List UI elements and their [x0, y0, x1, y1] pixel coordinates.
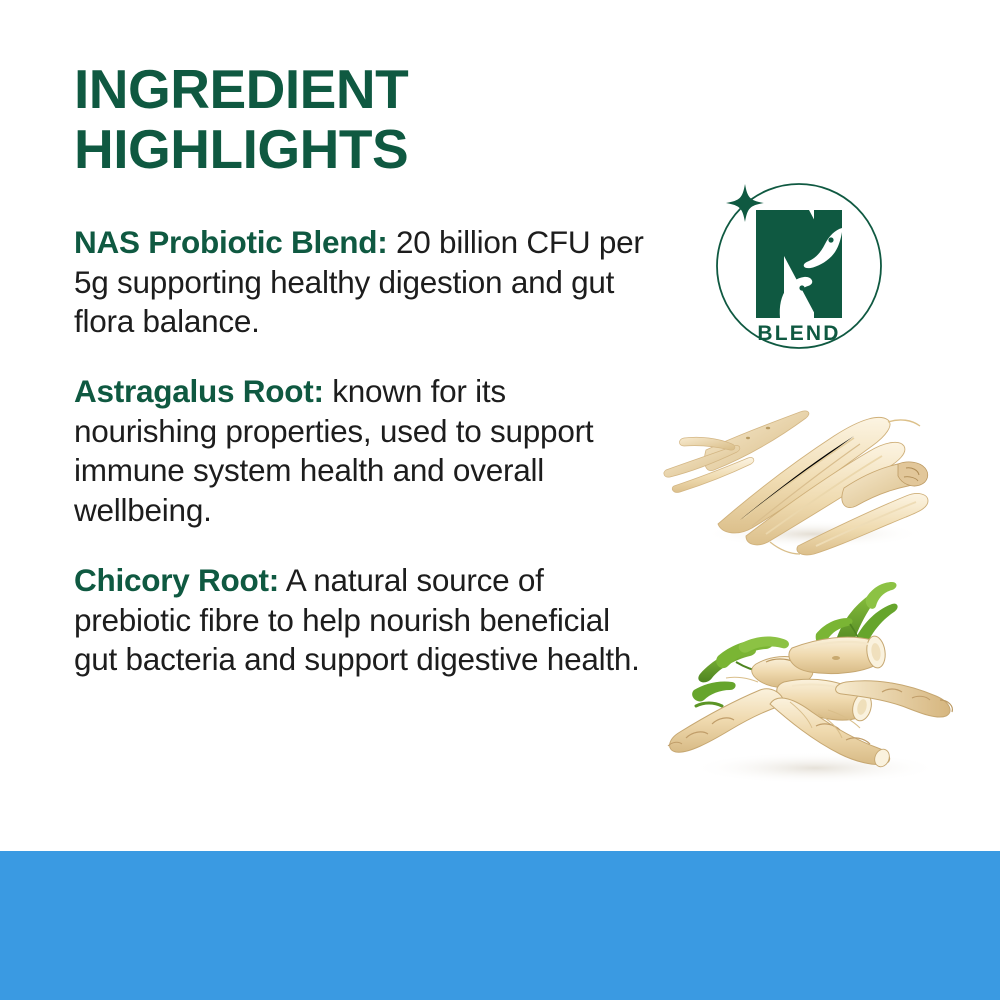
- list-item: Chicory Root: A natural source of prebio…: [74, 561, 654, 680]
- list-item: Astragalus Root: known for its nourishin…: [74, 372, 654, 531]
- list-item: NAS Probiotic Blend: 20 billion CFU per …: [74, 223, 654, 342]
- infographic-page: INGREDIENT HIGHLIGHTS NAS Probiotic Blen…: [0, 0, 1000, 1000]
- nas-blend-logo-icon: BLEND: [709, 176, 889, 358]
- ingredient-name: Astragalus Root:: [74, 373, 324, 409]
- chicory-root-image: [640, 578, 980, 793]
- page-title: INGREDIENT HIGHLIGHTS: [74, 60, 714, 180]
- n-monogram: [756, 210, 842, 318]
- footer-banner: QUALITY NATURAL INGREDIENTS: [0, 851, 1000, 1000]
- cat-eye: [799, 285, 804, 290]
- ingredient-list: NAS Probiotic Blend: 20 billion CFU per …: [74, 223, 654, 680]
- ingredient-name: Chicory Root:: [74, 562, 279, 598]
- badge-label: BLEND: [757, 322, 840, 345]
- ingredient-name: NAS Probiotic Blend:: [74, 224, 388, 260]
- dog-eye: [828, 237, 833, 242]
- astragalus-root-image: [648, 378, 968, 558]
